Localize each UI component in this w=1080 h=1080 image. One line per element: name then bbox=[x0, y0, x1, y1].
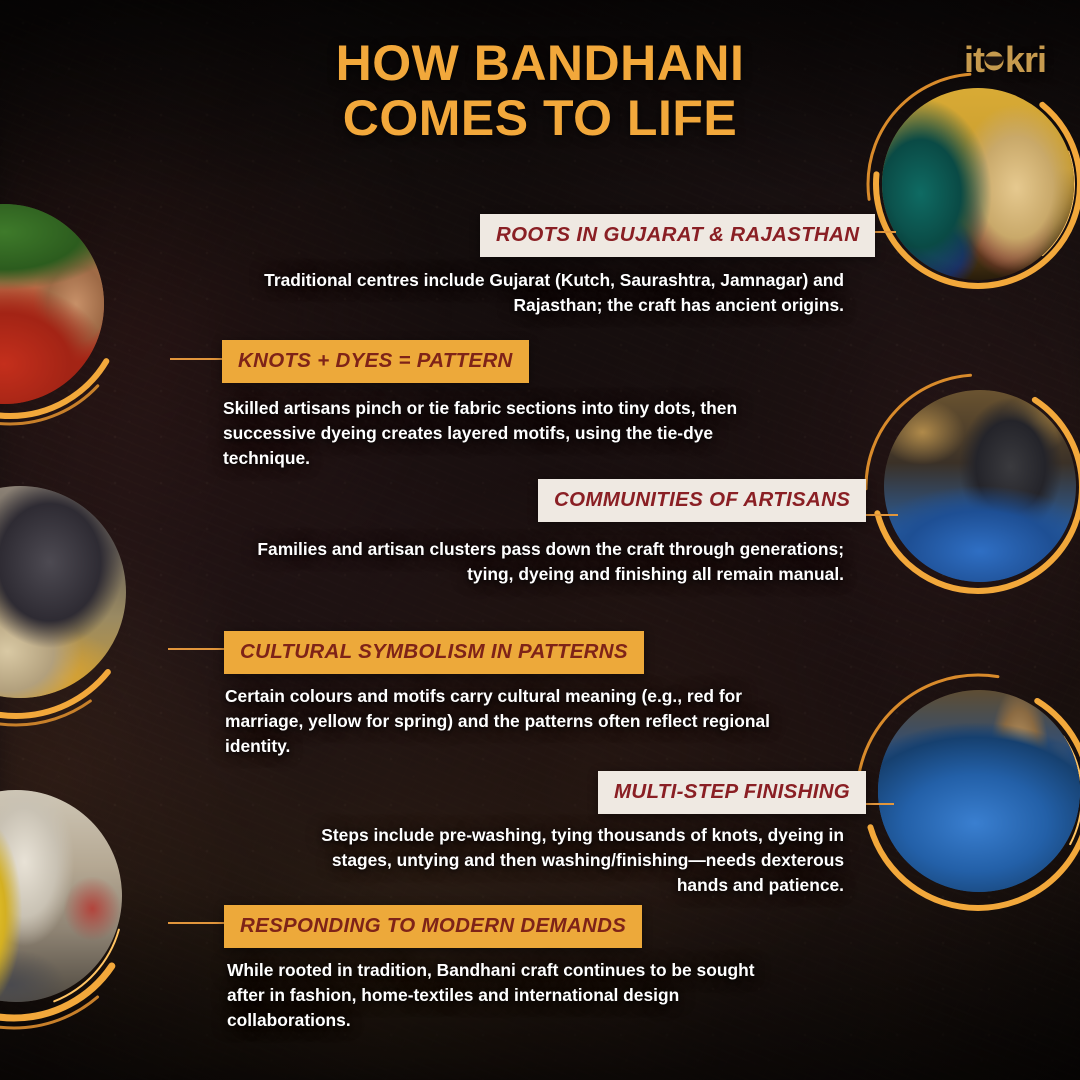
section-heading-communities: COMMUNITIES OF ARTISANS bbox=[538, 479, 866, 522]
section-body-communities: Families and artisan clusters pass down … bbox=[244, 537, 844, 587]
section-heading-finishing: MULTI-STEP FINISHING bbox=[598, 771, 866, 814]
section-body-symbolism: Certain colours and motifs carry cultura… bbox=[225, 684, 785, 759]
section-heading-modern-demands: RESPONDING TO MODERN DEMANDS bbox=[224, 905, 642, 948]
connector-line-symbolism bbox=[168, 648, 232, 650]
section-body-knots-dyes: Skilled artisans pinch or tie fabric sec… bbox=[223, 396, 753, 471]
section-body-finishing: Steps include pre-washing, tying thousan… bbox=[300, 823, 844, 898]
section-heading-knots-dyes: KNOTS + DYES = PATTERN bbox=[222, 340, 529, 383]
page-title-line-1: HOW BANDHANI bbox=[336, 35, 745, 91]
photo-woman-knotting bbox=[0, 486, 126, 698]
section-heading-roots: ROOTS IN GUJARAT & RAJASTHAN bbox=[480, 214, 875, 257]
itokri-logo[interactable]: itokri bbox=[964, 42, 1046, 78]
section-body-roots: Traditional centres include Gujarat (Kut… bbox=[250, 268, 844, 318]
photo-yellow-fabric-dye bbox=[0, 790, 122, 1002]
photo-dyer-blue-vat bbox=[884, 390, 1076, 582]
section-heading-symbolism: CULTURAL SYMBOLISM IN PATTERNS bbox=[224, 631, 644, 674]
connector-line-modern-demands bbox=[168, 922, 232, 924]
itokri-logo-o-mark: o bbox=[984, 42, 1005, 78]
photo-hands-red-fabric bbox=[0, 204, 104, 404]
photo-women-tying bbox=[882, 88, 1074, 280]
photo-blue-dye-closeup bbox=[878, 690, 1080, 892]
itokri-logo-text-part-1: it bbox=[964, 39, 984, 80]
itokri-logo-text-part-2: kri bbox=[1005, 39, 1046, 80]
section-body-modern-demands: While rooted in tradition, Bandhani craf… bbox=[227, 958, 793, 1033]
